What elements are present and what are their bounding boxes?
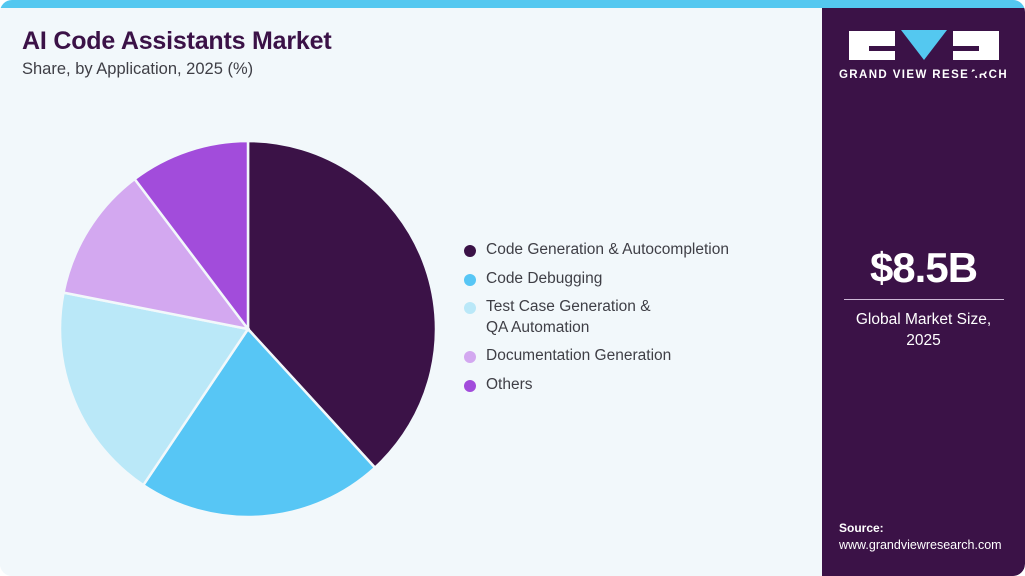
pie-slices (60, 141, 436, 517)
legend-item-label: Code Debugging (486, 269, 602, 290)
stat-caption: Global Market Size, 2025 (822, 309, 1025, 351)
pie-chart-svg (52, 133, 444, 525)
legend-swatch-icon (464, 351, 476, 363)
legend-item-test-case-generation-qa-automation[interactable]: Test Case Generation & QA Automation (464, 297, 794, 338)
logo-wordmark: GRAND VIEW RESEARCH (822, 69, 1025, 81)
market-size-stat: $8.5B Global Market Size, 2025 (822, 244, 1025, 351)
legend-item-others[interactable]: Others (464, 375, 794, 396)
top-accent-bar (0, 0, 1025, 8)
legend-swatch-icon (464, 380, 476, 392)
legend-item-label: Documentation Generation (486, 346, 671, 367)
legend-item-documentation-generation[interactable]: Documentation Generation (464, 346, 794, 367)
source-url[interactable]: www.grandviewresearch.com (839, 537, 1025, 554)
legend-item-label: Code Generation & Autocompletion (486, 240, 729, 261)
infographic-card: AI Code Assistants Market Share, by Appl… (0, 0, 1025, 576)
legend-swatch-icon (464, 245, 476, 257)
pie-chart (52, 133, 444, 525)
logo-marks (822, 30, 1025, 60)
legend-item-code-debugging[interactable]: Code Debugging (464, 269, 794, 290)
legend-swatch-icon (464, 274, 476, 286)
legend-item-code-generation-autocompletion[interactable]: Code Generation & Autocompletion (464, 240, 794, 261)
page-title: AI Code Assistants Market (22, 27, 331, 56)
stat-divider (844, 299, 1004, 300)
brand-logo[interactable]: GRAND VIEW RESEARCH (822, 30, 1025, 81)
legend-item-label: Others (486, 375, 533, 396)
source-block: Source: www.grandviewresearch.com (839, 520, 1025, 554)
legend-swatch-icon (464, 302, 476, 314)
chart-legend: Code Generation & Autocompletion Code De… (464, 240, 794, 403)
logo-r-icon (953, 31, 999, 60)
logo-g-icon (849, 31, 895, 60)
page-subtitle: Share, by Application, 2025 (%) (22, 60, 253, 79)
stat-value: $8.5B (822, 244, 1025, 292)
chart-panel: AI Code Assistants Market Share, by Appl… (0, 8, 820, 576)
source-label: Source: (839, 520, 1025, 537)
legend-item-label: Test Case Generation & QA Automation (486, 297, 651, 338)
logo-v-triangle-icon (901, 30, 947, 60)
brand-panel: GRAND VIEW RESEARCH $8.5B Global Market … (822, 8, 1025, 576)
